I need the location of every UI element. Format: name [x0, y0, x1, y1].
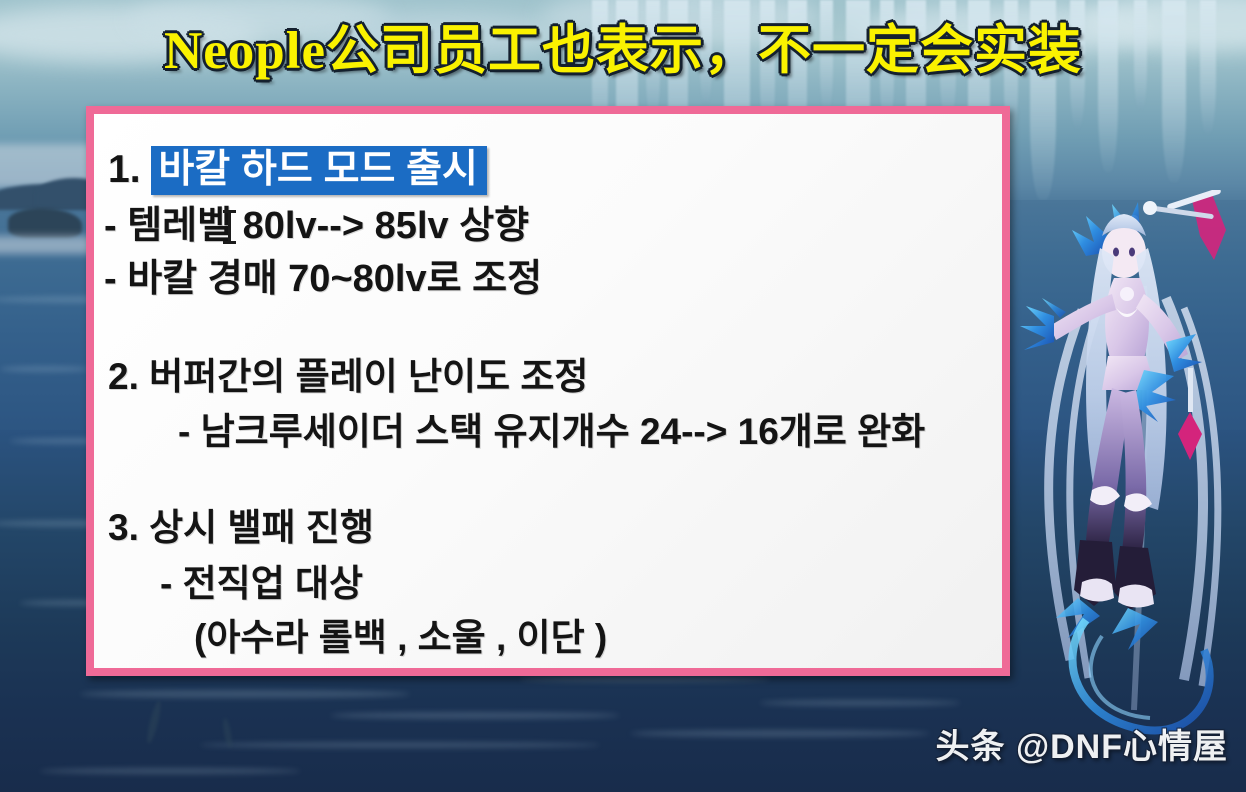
list-item-3b-text: (아수라 롤백 , 소울 , 이단 ) [194, 617, 607, 658]
water-streak [520, 676, 770, 682]
water-streak [40, 768, 300, 774]
channel-watermark: 头条 @DNF心情屋 [936, 719, 1228, 768]
list-item-3a: - 전직업 대상 [160, 553, 363, 607]
content-card: 1. 바칼 하드 모드 출시 - 템레벨 80lv--> 85lv 상향 - 바… [86, 106, 1010, 676]
slide-title: Neople公司员工也表示，不一定会实装 [0, 16, 1246, 86]
list-item-1a: - 템레벨 80lv--> 85lv 상향 [104, 194, 529, 249]
water-streak [760, 700, 960, 706]
list-item-2a-text: 남크루세이더 스택 유지개수 24--> 16개로 완화 [201, 411, 926, 452]
list-item-1b: - 바칼 경매 70~80lv로 조정 [104, 247, 542, 302]
list-item-3b: (아수라 롤백 , 소울 , 이단 ) [194, 607, 607, 661]
list-item-3: 3. 상시 밸패 진행 [108, 497, 374, 551]
list-item-2-text: 버퍼간의 플레이 난이도 조정 [149, 356, 588, 397]
list-item-2a: - 남크루세이더 스택 유지개수 24--> 16개로 완화 [178, 401, 925, 455]
list-item-1a-number: - [104, 205, 117, 248]
water-streak [0, 366, 90, 372]
list-item-1a-text: 템레벨 80lv--> 85lv 상향 [127, 205, 529, 247]
content-card-inner: 1. 바칼 하드 모드 출시 - 템레벨 80lv--> 85lv 상향 - 바… [94, 114, 1002, 668]
slide-title-latin: Neople [164, 22, 326, 80]
list-item-1b-text: 바칼 경매 70~80lv로 조정 [127, 258, 542, 300]
water-streak [80, 690, 410, 698]
slide-canvas: Neople公司员工也表示，不一定会实装 1. 바칼 하드 모드 출시 - 템레… [0, 0, 1246, 792]
slide-title-cjk: 公司员工也表示，不一定会实装 [326, 21, 1082, 80]
list-item-2-number: 2. [108, 356, 139, 398]
rock-shape [8, 208, 82, 238]
water-streak [630, 730, 930, 737]
list-item-1b-number: - [104, 258, 117, 301]
list-item-3-number: 3. [108, 507, 139, 549]
list-item-1: 1. 바칼 하드 모드 출시 [108, 138, 487, 194]
list-item-2: 2. 버퍼간의 플레이 난이도 조정 [108, 346, 588, 400]
list-item-3-text: 상시 밸패 진행 [149, 507, 374, 548]
list-item-3a-number: - [160, 563, 172, 605]
list-item-1-text[interactable]: 바칼 하드 모드 출시 [151, 146, 487, 195]
list-item-2a-number: - [178, 411, 190, 453]
water-streak [330, 712, 620, 719]
water-streak [200, 742, 600, 748]
list-item-3a-text: 전직업 대상 [183, 563, 363, 604]
list-item-1-number: 1. [108, 148, 141, 192]
